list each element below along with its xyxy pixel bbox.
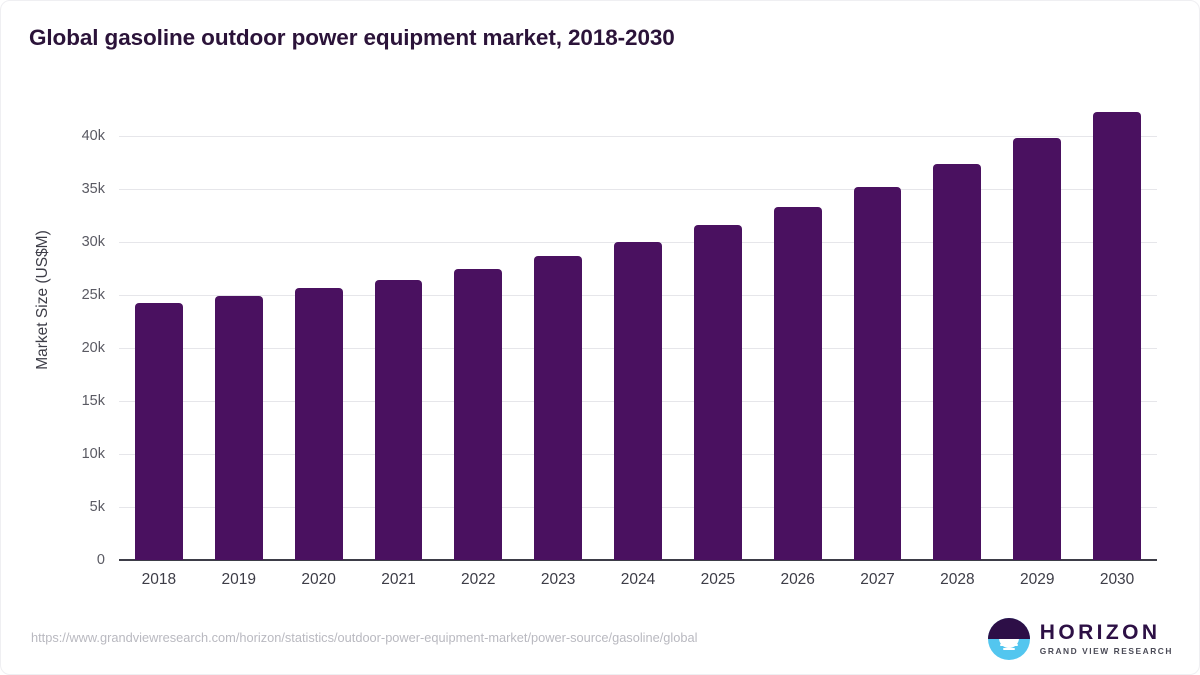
- x-tick-label: 2019: [222, 571, 256, 589]
- bar-2018[interactable]: [135, 303, 183, 560]
- bar-2030[interactable]: [1093, 112, 1141, 560]
- x-tick-label: 2028: [940, 571, 974, 589]
- x-tick-label: 2026: [780, 571, 814, 589]
- bar-2023[interactable]: [534, 256, 582, 560]
- bar-2019[interactable]: [215, 296, 263, 560]
- y-tick-label: 0: [97, 552, 105, 568]
- bar-2022[interactable]: [454, 269, 502, 561]
- x-tick-label: 2020: [301, 571, 335, 589]
- x-tick-label: 2024: [621, 571, 655, 589]
- bar-2027[interactable]: [854, 187, 902, 560]
- chart-card: Global gasoline outdoor power equipment …: [0, 0, 1200, 675]
- horizon-line-1-icon: [1000, 644, 1018, 646]
- x-tick-label: 2022: [461, 571, 495, 589]
- gridline: [119, 136, 1157, 137]
- x-tick-label: 2029: [1020, 571, 1054, 589]
- brand-text: HORIZON GRAND VIEW RESEARCH: [1040, 622, 1173, 655]
- y-tick-label: 20k: [82, 340, 105, 356]
- plot-area: Market Size (US$M) 05k10k15k20k25k30k35k…: [1, 1, 1200, 675]
- x-tick-label: 2023: [541, 571, 575, 589]
- bar-2021[interactable]: [375, 280, 423, 560]
- y-axis-title: Market Size (US$M): [34, 100, 52, 500]
- bar-2029[interactable]: [1013, 138, 1061, 560]
- y-tick-label: 30k: [82, 234, 105, 250]
- source-url[interactable]: https://www.grandviewresearch.com/horizo…: [31, 630, 697, 645]
- bar-2028[interactable]: [933, 164, 981, 560]
- x-tick-label: 2030: [1100, 571, 1134, 589]
- x-tick-label: 2018: [142, 571, 176, 589]
- y-tick-label: 10k: [82, 446, 105, 462]
- bar-2020[interactable]: [295, 288, 343, 560]
- brand-logo: HORIZON GRAND VIEW RESEARCH: [988, 618, 1173, 660]
- bar-2026[interactable]: [774, 207, 822, 560]
- brand-name: HORIZON: [1040, 622, 1173, 643]
- y-tick-label: 40k: [82, 128, 105, 144]
- x-tick-label: 2021: [381, 571, 415, 589]
- brand-tagline: GRAND VIEW RESEARCH: [1040, 647, 1173, 655]
- y-tick-label: 35k: [82, 181, 105, 197]
- horizon-line-2-icon: [1003, 648, 1015, 650]
- x-tick-label: 2025: [701, 571, 735, 589]
- y-tick-label: 15k: [82, 393, 105, 409]
- bar-2025[interactable]: [694, 225, 742, 560]
- x-tick-label: 2027: [860, 571, 894, 589]
- sky-half-icon: [988, 618, 1030, 639]
- bar-2024[interactable]: [614, 242, 662, 560]
- horizon-sun-icon: [988, 618, 1030, 660]
- y-tick-label: 25k: [82, 287, 105, 303]
- y-tick-label: 5k: [90, 499, 105, 515]
- gridline: [119, 189, 1157, 190]
